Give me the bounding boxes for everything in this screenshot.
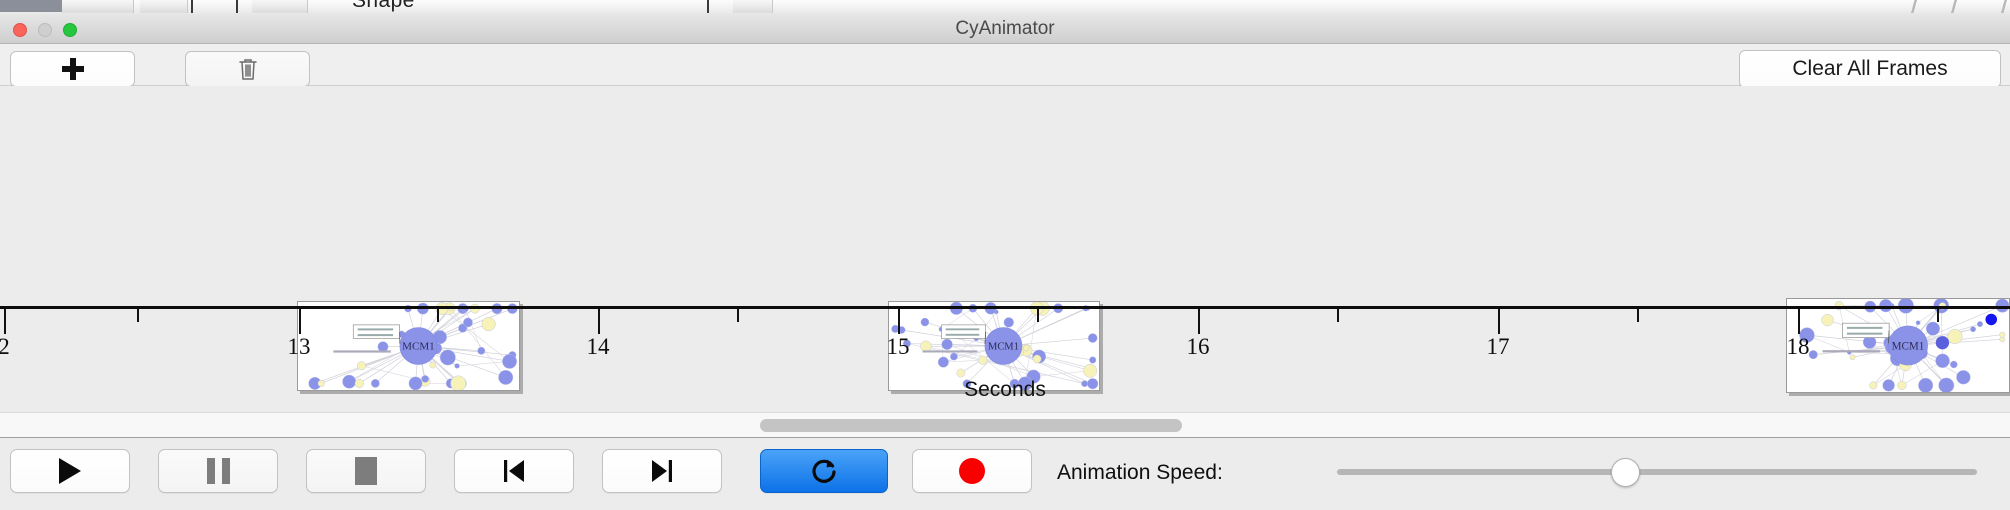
- delete-frame-button[interactable]: [185, 51, 310, 87]
- timeline-tick: [898, 309, 900, 334]
- timeline-tick: [137, 309, 139, 322]
- background-toolbar-segment: [733, 0, 773, 13]
- background-toolbar-segment: [140, 0, 188, 13]
- svg-text:MCM1: MCM1: [1892, 340, 1925, 352]
- timeline-tick-label: 16: [1187, 334, 1210, 360]
- add-frame-button[interactable]: [10, 51, 135, 87]
- timeline-tick: [737, 309, 739, 322]
- background-slash-glyph: [1998, 0, 2009, 13]
- loop-icon: [809, 456, 839, 486]
- play-button[interactable]: [10, 449, 130, 493]
- window-titlebar: CyAnimator: [0, 14, 2010, 44]
- loop-button[interactable]: [760, 449, 888, 493]
- svg-text:MCM1: MCM1: [402, 341, 435, 353]
- animation-speed-slider[interactable]: [1337, 469, 1977, 475]
- timeline-tick: [1498, 309, 1500, 334]
- background-window-label: Shape: [352, 0, 415, 13]
- stop-icon: [355, 457, 377, 485]
- skip-to-start-button[interactable]: [454, 449, 574, 493]
- timeline-tick-label: 15: [887, 334, 910, 360]
- timeline-tick-label: 14: [587, 334, 610, 360]
- timeline-tick: [1337, 309, 1339, 322]
- record-icon: [959, 458, 985, 484]
- toolbar: Clear All Frames: [0, 44, 2010, 86]
- timeline-tick-label: 17: [1487, 334, 1510, 360]
- timeline-tick-label: 18: [1787, 334, 1810, 360]
- svg-text:MCM1: MCM1: [988, 342, 1019, 353]
- background-toolbar-segment: [252, 0, 308, 13]
- stop-button[interactable]: [306, 449, 426, 493]
- trash-icon: [238, 57, 258, 81]
- skip-forward-icon: [649, 457, 675, 485]
- background-tick: [236, 0, 238, 13]
- animation-speed-slider-thumb[interactable]: [1611, 458, 1640, 487]
- timeline-tick-label: 13: [288, 334, 311, 360]
- clear-all-frames-button[interactable]: Clear All Frames: [1739, 50, 2001, 88]
- timeline-tick: [1037, 309, 1039, 322]
- timeline-tick: [4, 309, 6, 334]
- animation-speed-label: Animation Speed:: [1057, 461, 1223, 485]
- record-button[interactable]: [912, 449, 1032, 493]
- background-slash-glyph: [1908, 0, 1919, 13]
- background-tick: [707, 0, 709, 13]
- timeline-axis-title: Seconds: [0, 378, 2010, 402]
- background-slash-glyph: [1948, 0, 1959, 13]
- skip-to-end-button[interactable]: [602, 449, 722, 493]
- timeline-scrollbar[interactable]: [0, 412, 2010, 438]
- timeline-tick: [1937, 309, 1939, 322]
- transport-bar: Animation Speed:: [0, 438, 2010, 510]
- timeline-tick: [1637, 309, 1639, 322]
- timeline-tick: [1198, 309, 1200, 334]
- background-toolbar-segment: [62, 0, 134, 13]
- timeline-panel[interactable]: MCM1MCM1MCM1 2131415161718 Seconds: [0, 86, 2010, 412]
- background-tick: [191, 0, 193, 13]
- timeline-tick: [299, 309, 301, 334]
- scrollbar-thumb[interactable]: [760, 419, 1182, 432]
- timeline-tick: [1798, 309, 1800, 334]
- plus-icon: [62, 58, 84, 80]
- window-title: CyAnimator: [0, 14, 2010, 44]
- timeline-tick-label: 2: [0, 334, 10, 360]
- timeline-axis: [0, 306, 2010, 309]
- background-window-strip: Shape: [0, 0, 2010, 14]
- timeline-tick: [598, 309, 600, 334]
- pause-button[interactable]: [158, 449, 278, 493]
- background-window-titlebar-fragment: [0, 0, 62, 12]
- pause-icon: [207, 458, 230, 484]
- timeline-tick: [437, 309, 439, 322]
- play-icon: [59, 458, 81, 484]
- skip-back-icon: [501, 457, 527, 485]
